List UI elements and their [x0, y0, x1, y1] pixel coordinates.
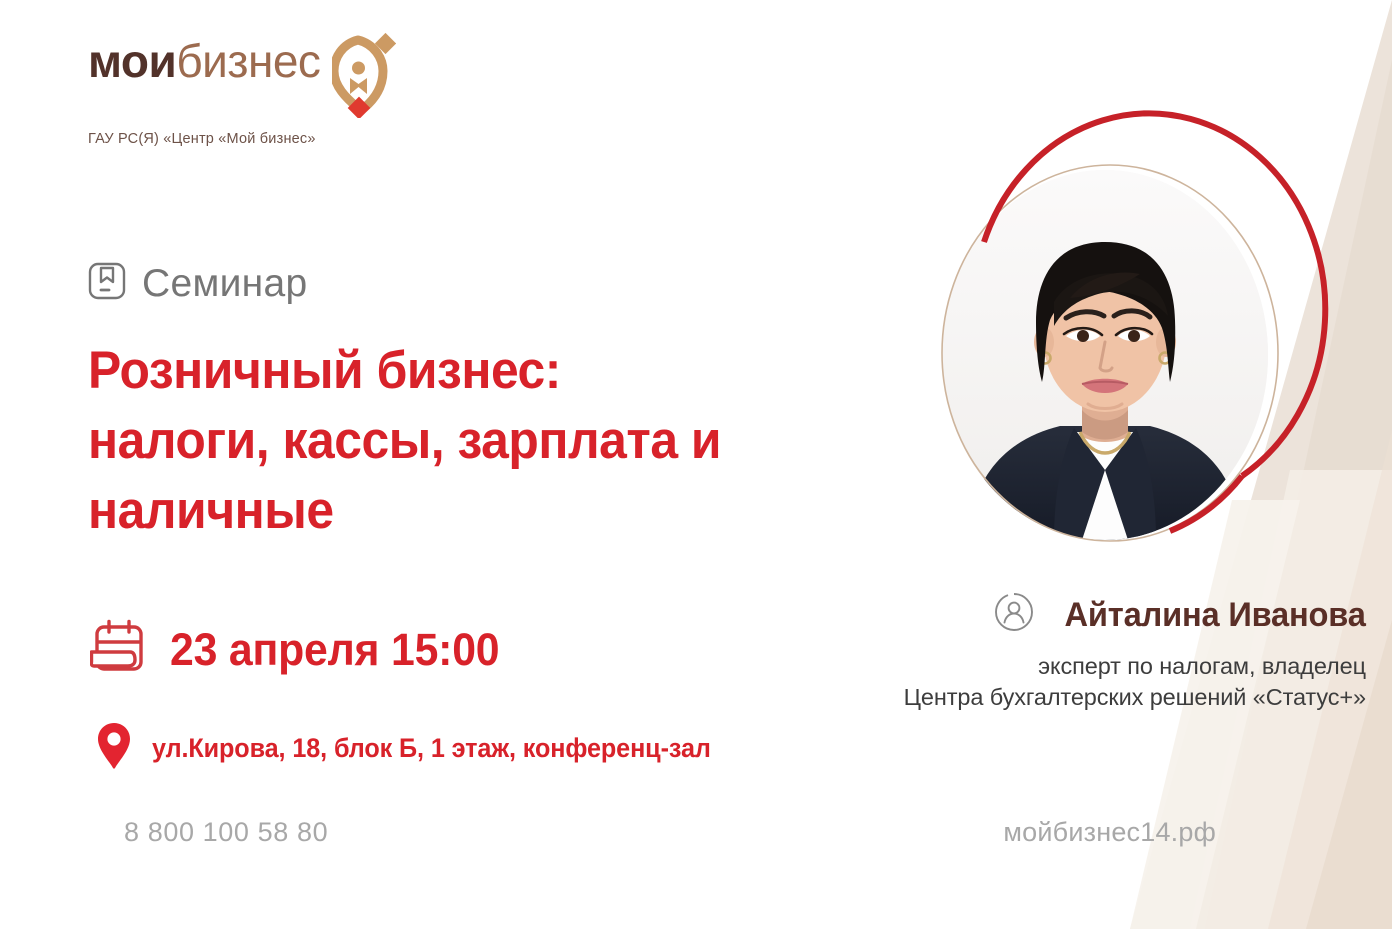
speaker-role-line-1: эксперт по налогам, владелец: [786, 651, 1366, 682]
portrait-ring-decoration: [920, 146, 1300, 561]
contact-phone[interactable]: 8 800 100 58 80: [124, 817, 328, 848]
title-line-2: налоги, кассы, зарплата и наличные: [88, 406, 915, 546]
speaker-role-line-2: Центра бухгалтерских решений «Статус+»: [786, 682, 1366, 713]
speaker-photo: [930, 160, 1280, 550]
logo-wordmark: моибизнес: [88, 38, 320, 84]
event-datetime: 23 апреля 15:00: [90, 618, 517, 681]
speaker-name-row: Айталина Иванова: [786, 592, 1366, 637]
logo-word-bold: мои: [88, 35, 176, 87]
logo-tagline: ГАУ РС(Я) «Центр «Мой бизнес»: [88, 131, 418, 147]
datetime-text: 23 апреля 15:00: [170, 627, 499, 672]
speaker-name: Айталина Иванова: [1065, 598, 1366, 632]
address-text: ул.Кирова, 18, блок Б, 1 этаж, конференц…: [152, 735, 711, 762]
title-line-1: Розничный бизнес:: [88, 341, 561, 400]
map-pin-icon: [96, 722, 132, 775]
page-title: Розничный бизнес: налоги, кассы, зарплат…: [88, 336, 915, 546]
seminar-book-icon: [88, 262, 126, 305]
speaker-block: Айталина Иванова эксперт по налогам, вла…: [786, 592, 1366, 712]
event-kicker: Семинар: [88, 262, 307, 305]
logo-word-light: бизнес: [176, 35, 320, 87]
person-circle-icon: [994, 592, 1034, 637]
brand-logo[interactable]: моибизнес ГАУ РС(Я) «Центр «Мой бизнес»: [88, 38, 418, 147]
location-pin-logo-icon: [332, 32, 396, 123]
calendar-icon: [90, 618, 148, 681]
event-location: ул.Кирова, 18, блок Б, 1 этаж, конференц…: [96, 722, 740, 775]
kicker-label: Семинар: [142, 264, 307, 303]
logo-row: моибизнес: [88, 38, 418, 123]
speaker-role: эксперт по налогам, владелец Центра бухг…: [786, 651, 1366, 712]
contact-website[interactable]: мойбизнес14.рф: [1003, 817, 1216, 848]
poster-canvas: моибизнес ГАУ РС(Я) «Центр «Мой бизнес»: [0, 0, 1392, 929]
beige-panel-3: [1130, 500, 1300, 929]
